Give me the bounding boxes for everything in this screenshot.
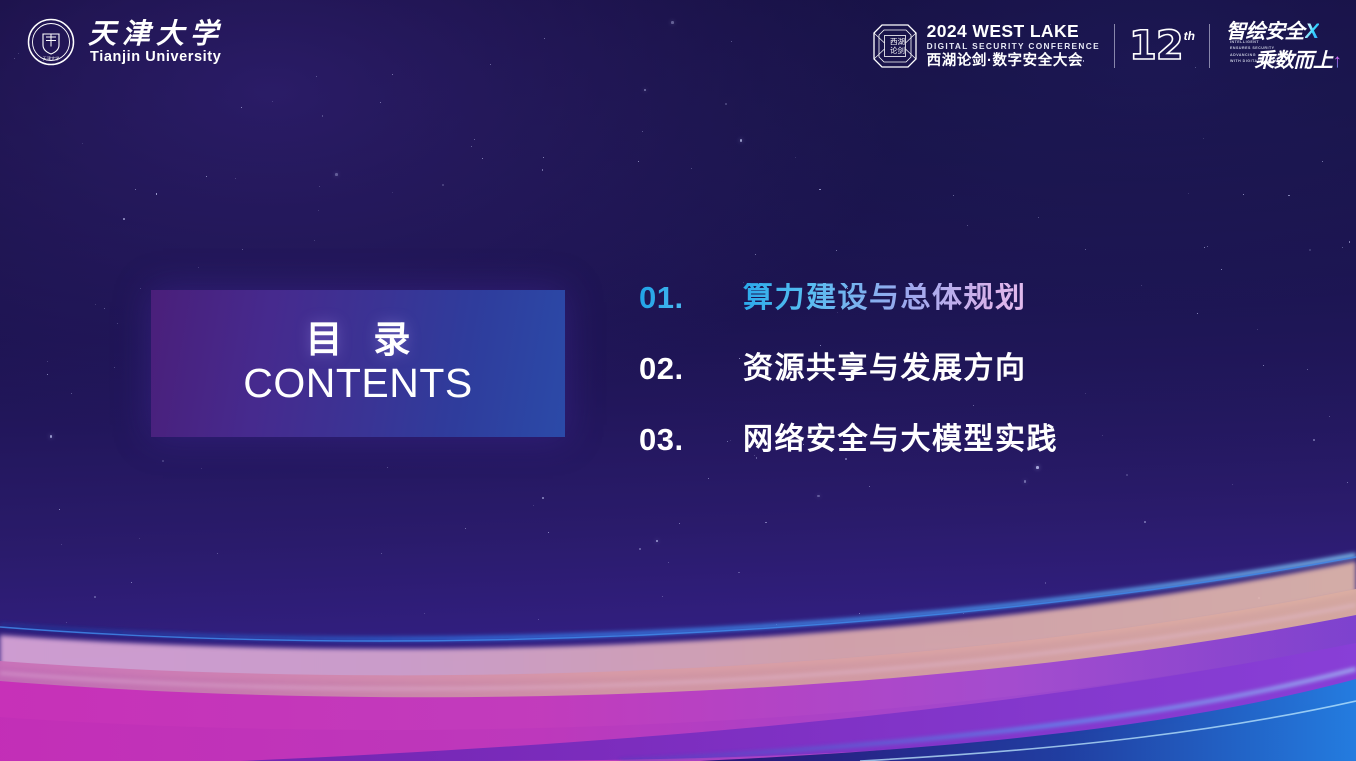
university-name-en: Tianjin University [88,50,224,65]
star-dot [380,102,381,103]
bottom-wave-decoration [0,531,1356,761]
star-dot [708,478,709,479]
star-dot [381,553,382,554]
edition-suffix: th [1184,29,1195,43]
star-dot [642,131,643,132]
star-dot [66,622,67,623]
star-dot [1307,369,1308,370]
agenda-item-03-number: 03. [639,424,743,455]
contents-title-card: 目 录 CONTENTS [151,290,565,437]
star-dot [1180,629,1181,630]
star-dot [1329,416,1330,417]
star-dot [47,374,48,375]
star-dot [668,562,670,564]
star-dot [755,254,756,255]
star-dot [1288,195,1290,197]
star-dot [953,195,954,196]
star-dot [543,157,544,158]
star-dot [1204,247,1205,248]
star-dot [538,619,539,620]
slide-header: 天津大学 天津大学 Tianjin University 西 湖 论 [0,0,1356,90]
star-dot [1207,246,1208,247]
star-dot [776,624,777,625]
star-dot [392,192,393,193]
star-dot [94,596,96,598]
agenda-item-01[interactable]: 01. 算力建设与总体规划 [639,262,1279,333]
star-dot [474,139,475,140]
star-dot [869,486,870,487]
divider-2 [1209,24,1210,68]
star-dot [817,495,820,498]
agenda-item-01-label: 算力建设与总体规划 [743,283,1027,313]
star-dot [963,613,964,614]
star-dot [1144,521,1146,523]
star-dot [795,157,796,158]
star-dot [114,367,115,368]
star-dot [206,176,207,177]
star-dot [542,497,544,499]
star-dot [836,250,837,251]
star-dot [679,523,680,524]
star-dot [104,308,105,309]
agenda-item-03-label: 网络安全与大模型实践 [743,425,1058,455]
conference-subtitle-en: DIGITAL SECURITY CONFERENCE [927,42,1100,51]
agenda-item-01-number: 01. [639,282,743,313]
star-dot [1045,582,1047,584]
star-dot [656,540,659,543]
star-dot [241,107,242,108]
star-dot [235,178,236,179]
university-logo: 天津大学 天津大学 Tianjin University [26,17,224,67]
star-dot [859,613,860,614]
star-dot [95,304,96,305]
star-dot [1313,439,1315,441]
star-dot [139,538,140,539]
star-dot [322,115,324,117]
conference-tagline-logo: 智绘安全 X INTELLIGENT ENSURES SECURITY ADVA… [1224,20,1342,72]
agenda-list: 01. 算力建设与总体规划 02. 资源共享与发展方向 03. 网络安全与大模型… [639,262,1279,475]
star-dot [1232,484,1233,485]
conference-edition-badge: 12 th [1129,27,1195,65]
svg-text:天津大学: 天津大学 [43,55,60,62]
star-dot [691,168,692,169]
star-dot [131,582,132,583]
agenda-item-02-number: 02. [639,353,743,384]
edition-number: 12 [1129,27,1183,65]
star-dot [135,189,136,190]
tagline-line2-cn: 乘数而上 [1255,51,1333,71]
star-dot [725,103,727,105]
star-dot [198,267,199,268]
star-dot [1085,249,1086,250]
star-dot [1342,247,1343,248]
star-dot [1203,138,1205,140]
star-dot [819,189,821,191]
star-dot [1024,480,1027,483]
star-dot [638,161,639,162]
star-dot [47,361,48,362]
star-dot [318,210,319,211]
star-dot [162,460,164,462]
divider-1 [1114,24,1115,68]
star-dot [1296,633,1297,634]
star-dot [471,146,472,147]
west-lake-conference-emblem-icon: 西 湖 论 剑 [872,23,918,69]
star-dot [967,225,968,226]
star-dot [50,435,53,438]
star-dot [314,240,315,241]
star-dot [242,249,243,250]
agenda-slide: 天津大学 天津大学 Tianjin University 西 湖 论 [0,0,1356,761]
star-dot [1038,217,1039,218]
west-lake-conference-logo: 西 湖 论 剑 2024 WEST LAKE DIGITAL SECURITY … [872,22,1100,69]
star-dot [424,613,425,614]
star-dot [82,143,83,144]
star-dot [272,101,273,102]
star-dot [542,169,544,171]
star-dot [1347,482,1348,483]
star-dot [639,548,641,550]
agenda-item-03[interactable]: 03. 网络安全与大模型实践 [639,404,1279,475]
star-dot [1173,599,1175,601]
contents-title-cn: 目 录 [306,321,420,360]
conference-logo-group: 西 湖 论 剑 2024 WEST LAKE DIGITAL SECURITY … [872,18,1342,74]
star-dot [662,596,663,597]
tagline-arrow-icon: ↑ [1333,52,1343,71]
star-dot [201,468,202,469]
contents-title-en: CONTENTS [243,361,473,406]
star-dot [61,544,62,545]
star-dot [548,532,549,533]
star-dot [442,184,444,186]
star-dot [140,288,141,289]
tianjin-university-seal-icon: 天津大学 [26,17,76,67]
star-dot [335,173,338,176]
star-dot [765,522,767,524]
star-dot [533,505,534,506]
star-dot [387,467,388,468]
agenda-item-02[interactable]: 02. 资源共享与发展方向 [639,333,1279,404]
university-name-cn: 天津大学 [88,19,224,48]
star-dot [217,553,218,554]
star-dot [1349,241,1351,243]
star-dot [465,528,466,529]
star-dot [117,323,118,324]
conference-title-en: 2024 WEST LAKE [927,22,1100,40]
star-dot [482,158,483,159]
star-dot [59,509,60,510]
svg-text:湖: 湖 [897,37,905,46]
star-dot [1188,193,1189,194]
star-dot [1243,194,1244,195]
star-dot [1309,249,1311,251]
star-dot [123,218,125,220]
svg-text:剑: 剑 [897,45,905,55]
star-dot [156,193,158,195]
star-dot [71,393,72,394]
agenda-item-02-label: 资源共享与发展方向 [743,354,1027,384]
star-dot [1258,597,1261,600]
conference-title-cn: 西湖论剑·数字安全大会 [927,53,1100,70]
star-dot [740,139,743,142]
star-dot [1322,161,1323,162]
tagline-x-mark: X [1305,21,1319,42]
star-dot [319,186,320,187]
star-dot [738,572,740,574]
